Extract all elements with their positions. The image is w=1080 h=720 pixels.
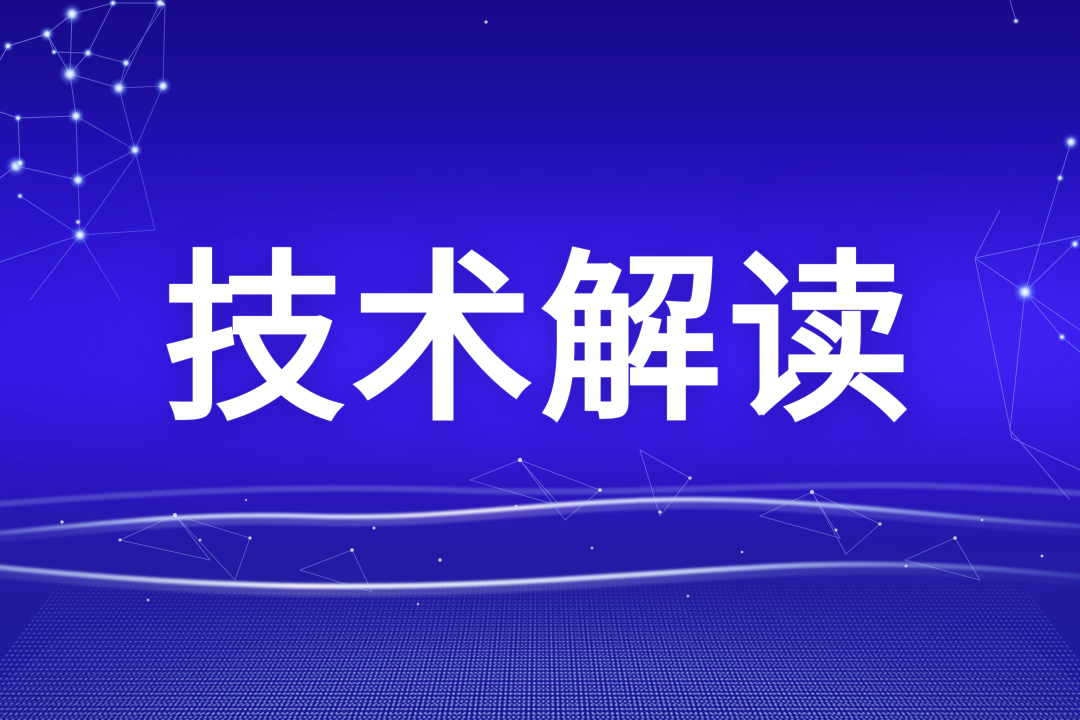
wave-polygon-mesh — [0, 420, 1080, 720]
headline-text: 技术解读 — [163, 248, 916, 434]
banner-headline: 技术解读 — [0, 248, 1080, 434]
tech-banner: 技术解读 — [0, 0, 1080, 720]
particle-wave-field — [0, 420, 1080, 720]
